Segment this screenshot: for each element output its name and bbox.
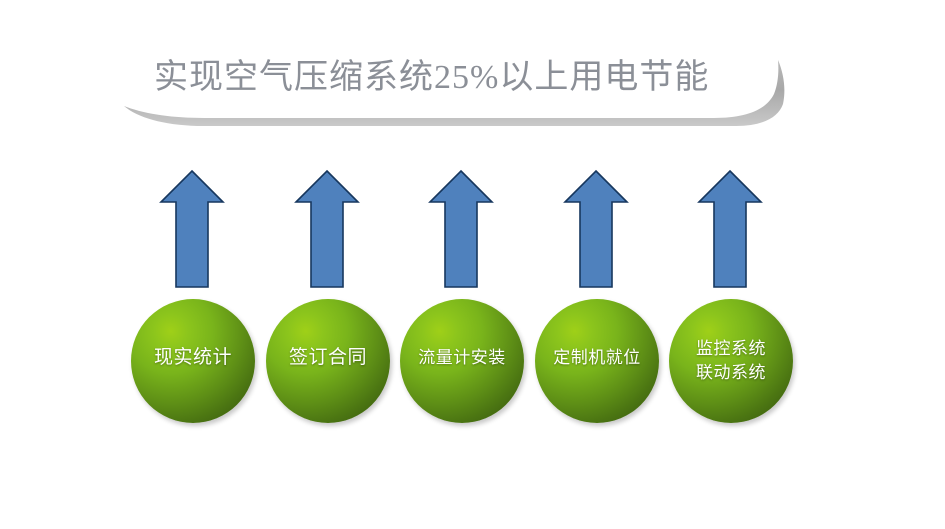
up-arrow-icon-2: [294, 168, 360, 290]
page-title: 实现空气压缩系统25%以上用电节能: [154, 50, 794, 106]
step-circles-row: 现实统计 签订合同 流量计安装 定制机就位 监控系统 联动系统: [0, 299, 945, 429]
arrows-row: [0, 168, 945, 293]
step-circle-label-2: 签订合同: [289, 345, 367, 377]
step-circle-2[interactable]: 签订合同: [266, 299, 390, 423]
step-circle-label-5: 监控系统 联动系统: [696, 337, 766, 385]
step-circle-label-4: 定制机就位: [553, 345, 641, 377]
step-circle-4[interactable]: 定制机就位: [535, 299, 659, 423]
slide-canvas: 实现空气压缩系统25%以上用电节能 现实统计 签订合同 流量计安装: [0, 0, 945, 529]
up-arrow-icon-1: [159, 168, 225, 290]
step-circle-label-1: 现实统计: [154, 345, 232, 377]
step-circle-label-3: 流量计安装: [418, 345, 506, 377]
up-arrow-icon-5: [697, 168, 763, 290]
step-circle-3[interactable]: 流量计安装: [400, 299, 524, 423]
up-arrow-icon-4: [563, 168, 629, 290]
step-circle-5[interactable]: 监控系统 联动系统: [669, 299, 793, 423]
up-arrow-icon-3: [428, 168, 494, 290]
title-banner: 实现空气压缩系统25%以上用电节能: [118, 36, 818, 146]
step-circle-1[interactable]: 现实统计: [131, 299, 255, 423]
